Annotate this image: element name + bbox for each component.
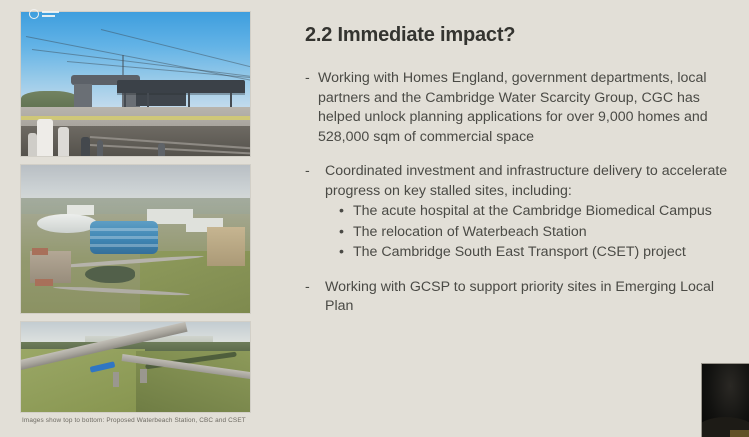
webcam-light-glow bbox=[730, 430, 749, 437]
content-block: - Working with Homes England, government… bbox=[305, 69, 743, 147]
tan-tower-building bbox=[207, 227, 246, 265]
list-item-label: The relocation of Waterbeach Station bbox=[353, 224, 587, 240]
bullet-dot-icon: • bbox=[339, 202, 344, 222]
logo-circle-icon bbox=[29, 9, 39, 19]
person-figure bbox=[37, 119, 53, 156]
list-item: • The Cambridge South East Transport (CS… bbox=[353, 243, 743, 263]
image-column bbox=[21, 12, 250, 412]
bullet-dot-icon: • bbox=[339, 243, 344, 263]
presentation-slide: Images show top to bottom: Proposed Wate… bbox=[0, 0, 749, 437]
photo-cset bbox=[21, 322, 250, 412]
logo-wordmark bbox=[42, 11, 59, 16]
facade-stripe bbox=[90, 228, 159, 231]
dash-marker: - bbox=[305, 69, 318, 89]
photo-waterbeach-station bbox=[21, 12, 250, 156]
blue-cylindrical-building bbox=[90, 221, 159, 254]
dash-marker: - bbox=[305, 162, 325, 182]
photo-cambridge-biomedical-campus bbox=[21, 165, 250, 313]
list-item: • The relocation of Waterbeach Station bbox=[353, 223, 743, 243]
facade-stripe bbox=[90, 244, 159, 247]
list-item-label: The Cambridge South East Transport (CSET… bbox=[353, 244, 686, 260]
platform-edge-line bbox=[21, 116, 250, 120]
viaduct-pier bbox=[113, 372, 120, 386]
sub-bullet-list: • The acute hospital at the Cambridge Bi… bbox=[305, 202, 743, 263]
list-item: • The acute hospital at the Cambridge Bi… bbox=[353, 202, 743, 222]
brick-roof bbox=[32, 248, 48, 255]
person-figure bbox=[28, 133, 37, 156]
pond bbox=[85, 266, 135, 284]
platform-canopy bbox=[117, 80, 245, 93]
bullet-dot-icon: • bbox=[339, 223, 344, 243]
organisation-logo bbox=[29, 9, 59, 19]
dash-marker: - bbox=[305, 278, 325, 298]
block-text: Working with Homes England, government d… bbox=[318, 69, 743, 147]
image-caption: Images show top to bottom: Proposed Wate… bbox=[22, 417, 246, 424]
slide-content: 2.2 Immediate impact? - Working with Hom… bbox=[305, 24, 743, 332]
content-block: - Coordinated investment and infrastruct… bbox=[305, 162, 743, 263]
list-item-label: The acute hospital at the Cambridge Biom… bbox=[353, 203, 712, 219]
block-text: Working with GCSP to support priority si… bbox=[325, 278, 743, 317]
presenter-webcam-thumbnail[interactable] bbox=[701, 363, 749, 437]
person-figure bbox=[81, 137, 90, 156]
viaduct-pier bbox=[140, 369, 147, 383]
block-text: Coordinated investment and infrastructur… bbox=[325, 162, 743, 201]
person-figure bbox=[158, 143, 165, 156]
person-figure bbox=[97, 140, 104, 156]
oval-roof-building bbox=[37, 214, 97, 233]
content-block: - Working with GCSP to support priority … bbox=[305, 278, 743, 317]
brick-roof bbox=[35, 279, 53, 286]
facade-stripe bbox=[90, 236, 159, 239]
person-figure bbox=[58, 127, 69, 156]
page-title: 2.2 Immediate impact? bbox=[305, 24, 743, 47]
